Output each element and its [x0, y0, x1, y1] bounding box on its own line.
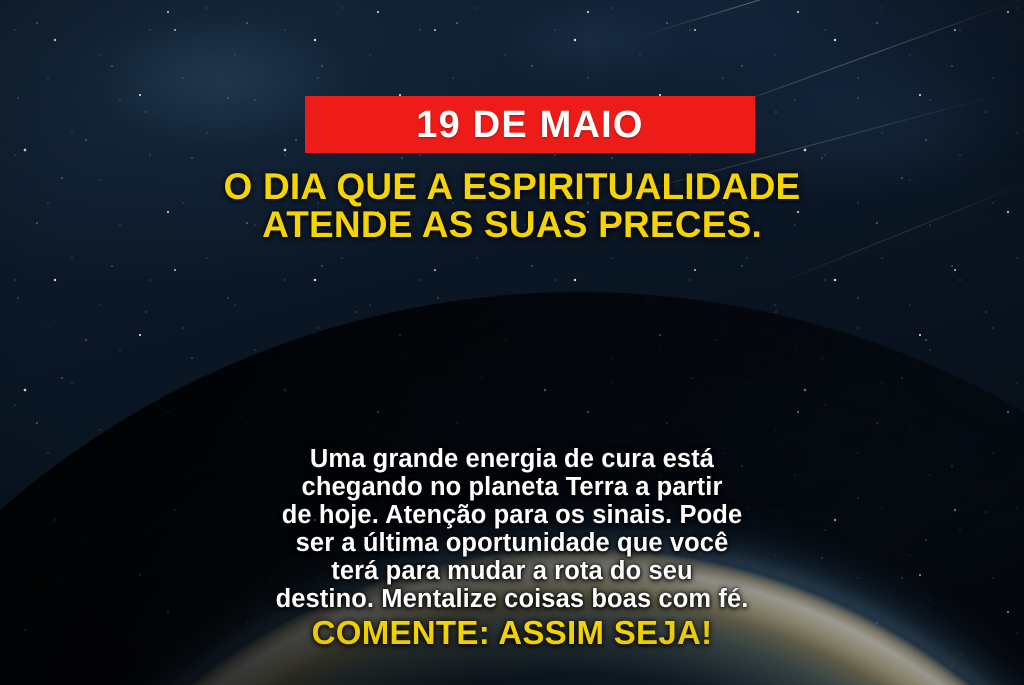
headline-line-1: O DIA QUE A ESPIRITUALIDADE [0, 168, 1024, 206]
poster-content: 19 DE MAIO O DIA QUE A ESPIRITUALIDADE A… [0, 0, 1024, 685]
call-to-action-text: COMENTE: ASSIM SEJA! [0, 615, 1024, 651]
body-line-4: ser a última oportunidade que você [52, 529, 972, 557]
date-banner: 19 DE MAIO [305, 96, 755, 153]
poster-image: 19 DE MAIO O DIA QUE A ESPIRITUALIDADE A… [0, 0, 1024, 685]
body-line-1: Uma grande energia de cura está [52, 445, 972, 473]
body-line-5: terá para mudar a rota do seu [52, 557, 972, 585]
body-paragraph: Uma grande energia de cura está chegando… [52, 445, 972, 613]
headline: O DIA QUE A ESPIRITUALIDADE ATENDE AS SU… [0, 168, 1024, 244]
headline-line-2: ATENDE AS SUAS PRECES. [0, 206, 1024, 244]
date-banner-label: 19 DE MAIO [416, 106, 643, 144]
body-line-2: chegando no planeta Terra a partir [52, 473, 972, 501]
body-line-3: de hoje. Atenção para os sinais. Pode [52, 501, 972, 529]
body-line-6: destino. Mentalize coisas boas com fé. [52, 585, 972, 613]
